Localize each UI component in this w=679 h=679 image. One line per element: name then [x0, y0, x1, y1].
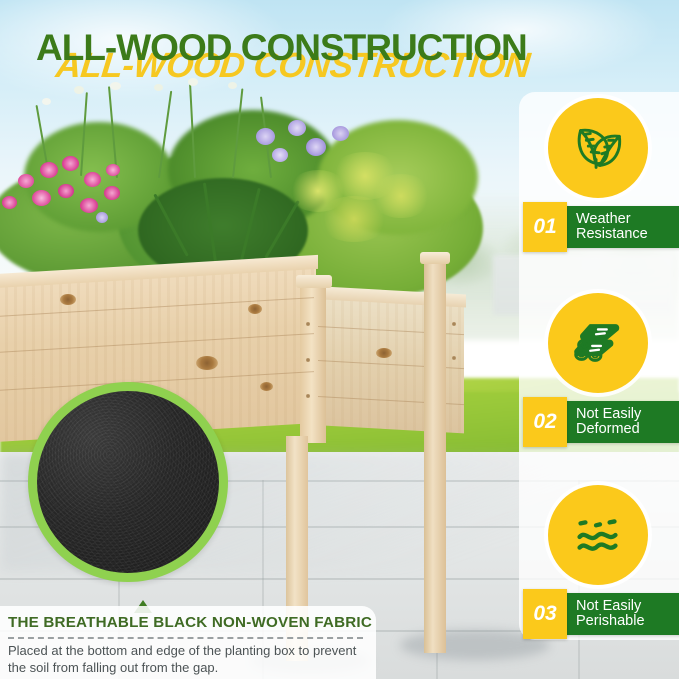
feature-card-03[interactable]: 03 Not Easily Perishable — [519, 485, 679, 645]
logs-icon — [567, 312, 629, 374]
feature-text-02-line2: Deformed — [576, 422, 641, 437]
leaves-icon — [567, 117, 629, 179]
feature-text-02: Not Easily Deformed — [576, 407, 641, 437]
feature-icon-circle-02 — [548, 293, 648, 393]
feature-text-03-line2: Perishable — [576, 614, 645, 629]
planter-leg-right — [424, 258, 446, 653]
headline-group: ALL-WOOD CONSTRUCTION ALL-WOOD CONSTRUCT… — [0, 10, 679, 82]
fabric-description-panel: THE BREATHABLE BLACK NON-WOVEN FABRIC Pl… — [0, 606, 376, 679]
feature-text-02-line1: Not Easily — [576, 407, 641, 422]
feature-card-02[interactable]: 02 Not Easily Deformed — [519, 293, 679, 453]
moisture-waves-icon — [567, 504, 629, 566]
fabric-description-body: Placed at the bottom and edge of the pla… — [8, 642, 370, 676]
feature-text-03: Not Easily Perishable — [576, 599, 645, 629]
non-woven-fabric-swatch — [37, 391, 219, 573]
product-infographic: ALL-WOOD CONSTRUCTION ALL-WOOD CONSTRUCT… — [0, 0, 679, 679]
feature-text-01-line2: Resistance — [576, 227, 648, 242]
feature-label-bar-01: 01 Weather Resistance — [527, 206, 679, 248]
feature-number-03: 03 — [523, 589, 567, 639]
planter-leg-right-cap — [420, 252, 450, 264]
feature-card-01[interactable]: 01 Weather Resistance — [519, 98, 679, 258]
planter-post-cap — [296, 275, 332, 288]
feature-text-01-line1: Weather — [576, 212, 648, 227]
feature-number-02: 02 — [523, 397, 567, 447]
fabric-callout-circle — [28, 382, 228, 582]
fabric-description-heading: THE BREATHABLE BLACK NON-WOVEN FABRIC — [8, 614, 372, 631]
feature-text-01: Weather Resistance — [576, 212, 648, 242]
feature-label-bar-02: 02 Not Easily Deformed — [527, 401, 679, 443]
feature-icon-circle-03 — [548, 485, 648, 585]
feature-label-bar-03: 03 Not Easily Perishable — [527, 593, 679, 635]
feature-text-03-line1: Not Easily — [576, 599, 645, 614]
feature-number-01: 01 — [523, 202, 567, 252]
page-title: ALL-WOOD CONSTRUCTION — [36, 27, 676, 69]
planter-corner-post — [300, 283, 326, 443]
dashed-divider — [8, 637, 363, 639]
feature-icon-circle-01 — [548, 98, 648, 198]
